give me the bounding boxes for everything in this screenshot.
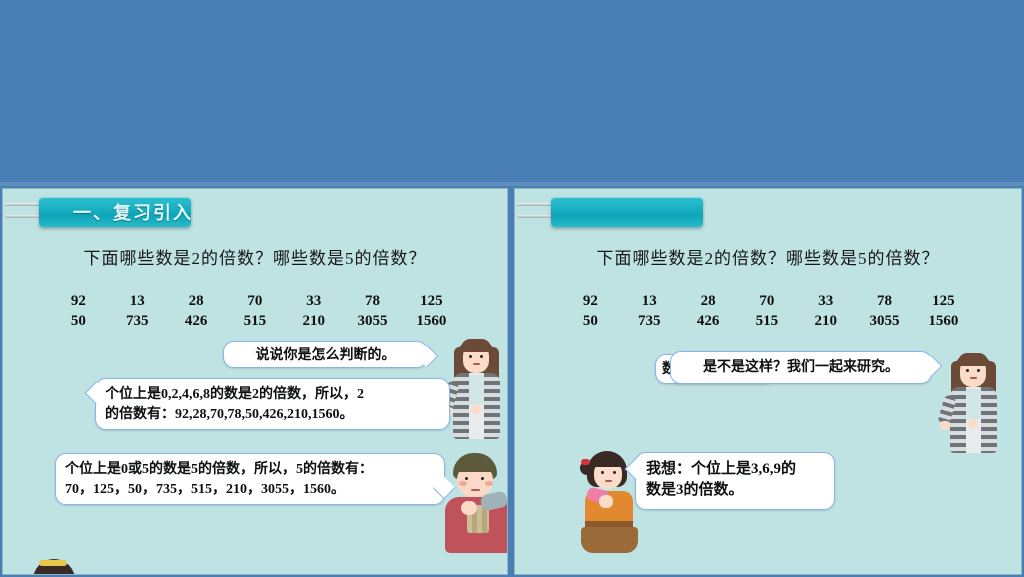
number-cell: 735 bbox=[108, 313, 167, 330]
panel-divider bbox=[509, 186, 512, 577]
bubble-girl-guess-3-line2: 数是3的倍数。 bbox=[646, 480, 824, 501]
number-cell: 125 bbox=[914, 293, 973, 310]
slide-stage: 一、复习引入 下面哪些数是2的倍数？哪些数是5的倍数？ 92 13 28 70 … bbox=[0, 0, 1024, 577]
number-cell: 28 bbox=[679, 293, 738, 310]
teacher-cardigan-right bbox=[981, 387, 997, 453]
girl-orange-hand bbox=[599, 495, 613, 508]
right-numbers-row-1: 92 13 28 70 33 78 125 bbox=[561, 293, 973, 310]
number-cell: 13 bbox=[108, 293, 167, 310]
number-cell: 210 bbox=[284, 313, 343, 330]
number-cell: 426 bbox=[679, 313, 738, 330]
teacher-hand-right bbox=[471, 405, 481, 414]
number-cell: 70 bbox=[737, 293, 796, 310]
girl-orange-fringe bbox=[591, 456, 624, 467]
bubble-girl-answer-2-line1: 个位上是0,2,4,6,8的数是2的倍数，所以，2 bbox=[105, 385, 440, 405]
right-numbers-row-2: 50 735 426 515 210 3055 1560 bbox=[561, 313, 973, 330]
bubble-girl-answer-2-line2: 的倍数有：92,28,70,78,50,426,210,1560。 bbox=[105, 405, 440, 425]
bubble-boy-answer-5-line1: 个位上是0或5的数是5的倍数，所以，5的倍数有： bbox=[65, 460, 435, 480]
number-cell: 3055 bbox=[343, 313, 402, 330]
right-question-text: 下面哪些数是2的倍数？哪些数是5的倍数？ bbox=[515, 244, 1021, 269]
number-cell: 33 bbox=[284, 293, 343, 310]
teacher-mouth bbox=[473, 363, 480, 365]
teacher-fringe bbox=[958, 353, 988, 366]
teacher-eye-left bbox=[966, 369, 969, 372]
right-section-title-plate bbox=[551, 197, 703, 227]
girl-orange-skirt bbox=[581, 527, 638, 553]
bubble-teacher-prompt-text: 说说你是怎么判断的。 bbox=[256, 348, 396, 363]
number-cell: 735 bbox=[620, 313, 679, 330]
girl-orange-mouth bbox=[605, 480, 612, 482]
left-slide-panel: 一、复习引入 下面哪些数是2的倍数？哪些数是5的倍数？ 92 13 28 70 … bbox=[2, 188, 508, 575]
boy-red-eye-right bbox=[481, 477, 484, 480]
bubble-girl-guess-3-line1: 我想：个位上是3,6,9的 bbox=[646, 459, 824, 480]
number-cell: 515 bbox=[225, 313, 284, 330]
number-cell: 210 bbox=[796, 313, 855, 330]
boy-red-eye-left bbox=[465, 477, 468, 480]
left-numbers-row-1: 92 13 28 70 33 78 125 bbox=[49, 293, 461, 310]
number-cell: 33 bbox=[796, 293, 855, 310]
number-cell: 3055 bbox=[855, 313, 914, 330]
bubble-teacher-prompt: 说说你是怎么判断的。 bbox=[223, 341, 428, 368]
bubble-boy-answer-5-line2: 70，125，50，735，515，210，3055，1560。 bbox=[65, 480, 435, 500]
number-cell: 1560 bbox=[914, 313, 973, 330]
left-numbers-grid: 92 13 28 70 33 78 125 50 735 426 515 210… bbox=[49, 293, 461, 333]
teacher-eye-left bbox=[469, 355, 472, 358]
bubble-tail-icon bbox=[416, 345, 439, 368]
teacher-figure bbox=[443, 335, 508, 447]
girl-orange-hair-tie bbox=[581, 459, 590, 465]
number-cell: 13 bbox=[620, 293, 679, 310]
bubble-teacher-prompt-text: 是不是这样？我们一起来研究。 bbox=[703, 360, 899, 375]
number-cell: 70 bbox=[225, 293, 284, 310]
number-cell: 92 bbox=[49, 293, 108, 310]
boy-red-figure bbox=[441, 451, 508, 555]
right-numbers-grid: 92 13 28 70 33 78 125 50 735 426 515 210… bbox=[561, 293, 973, 333]
girl-orange-eye-right bbox=[613, 471, 616, 474]
teacher-shirt bbox=[469, 375, 484, 405]
teacher-cardigan-right bbox=[484, 373, 500, 439]
teacher-fringe bbox=[461, 339, 491, 352]
number-cell: 1560 bbox=[402, 313, 461, 330]
number-cell: 78 bbox=[855, 293, 914, 310]
boy-red-cheek-left bbox=[459, 481, 467, 486]
girl-orange-eye-left bbox=[601, 471, 604, 474]
number-cell: 92 bbox=[561, 293, 620, 310]
boy-red-fringe bbox=[454, 460, 496, 472]
teacher-mouth bbox=[970, 377, 977, 379]
bubble-girl-answer-2: 个位上是0,2,4,6,8的数是2的倍数，所以，2 的倍数有：92,28,70,… bbox=[95, 378, 450, 430]
right-slide-panel: 下面哪些数是2的倍数？哪些数是5的倍数？ 92 13 28 70 33 78 1… bbox=[514, 188, 1022, 575]
boy-red-cheek-right bbox=[485, 481, 493, 486]
left-numbers-row-2: 50 735 426 515 210 3055 1560 bbox=[49, 313, 461, 330]
left-section-title-plate: 一、复习引入 bbox=[39, 197, 191, 227]
bubble-tail-icon bbox=[85, 382, 108, 405]
number-cell: 78 bbox=[343, 293, 402, 310]
number-cell: 28 bbox=[167, 293, 226, 310]
teacher-eye-right bbox=[977, 369, 980, 372]
panels-container: 一、复习引入 下面哪些数是2的倍数？哪些数是5的倍数？ 92 13 28 70 … bbox=[0, 186, 1024, 577]
number-cell: 50 bbox=[561, 313, 620, 330]
teacher-shirt bbox=[966, 389, 981, 419]
bubble-teacher-prompt: 是不是这样？我们一起来研究。 bbox=[670, 351, 932, 384]
teacher-hand-right bbox=[968, 419, 978, 428]
girl-pink-figure bbox=[25, 557, 87, 575]
number-cell: 125 bbox=[402, 293, 461, 310]
number-cell: 515 bbox=[737, 313, 796, 330]
teacher-eye-right bbox=[480, 355, 483, 358]
bubble-girl-guess-3: 我想：个位上是3,6,9的 数是3的倍数。 bbox=[635, 452, 835, 510]
boy-red-hand bbox=[461, 501, 477, 515]
left-section-title: 一、复习引入 bbox=[73, 199, 193, 225]
teacher-hand-left bbox=[940, 421, 950, 430]
number-cell: 50 bbox=[49, 313, 108, 330]
top-blue-band bbox=[0, 0, 1024, 186]
number-cell: 426 bbox=[167, 313, 226, 330]
bubble-tail-icon bbox=[920, 355, 943, 378]
left-question-text: 下面哪些数是2的倍数？哪些数是5的倍数？ bbox=[3, 244, 507, 269]
girl-pink-fringe bbox=[40, 566, 69, 575]
bubble-boy-answer-5: 个位上是0或5的数是5的倍数，所以，5的倍数有： 70，125，50，735，5… bbox=[55, 453, 445, 505]
teacher-figure bbox=[940, 349, 1006, 461]
boy-red-mouth bbox=[471, 489, 480, 491]
